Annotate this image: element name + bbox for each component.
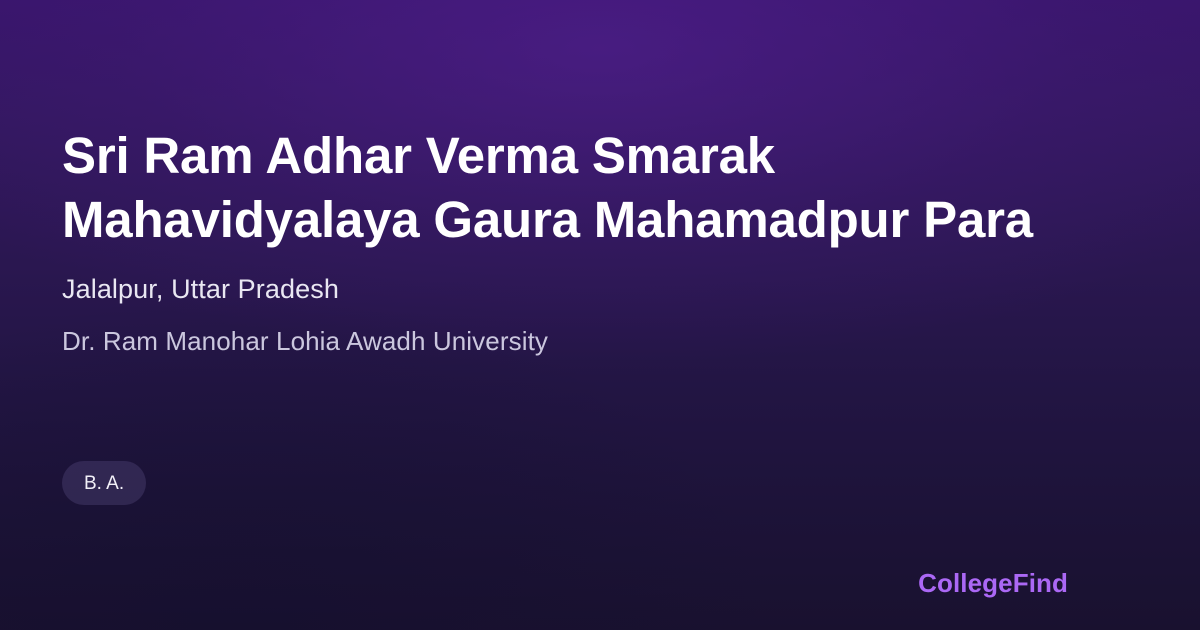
brand-logo: CollegeFind bbox=[918, 568, 1068, 598]
affiliating-university: Dr. Ram Manohar Lohia Awadh University bbox=[62, 324, 548, 358]
course-badge-list: B. A. bbox=[62, 461, 146, 505]
college-og-card: Sri Ram Adhar Verma Smarak Mahavidyalaya… bbox=[0, 0, 1200, 630]
college-location: Jalalpur, Uttar Pradesh bbox=[62, 272, 339, 306]
course-badge: B. A. bbox=[62, 461, 146, 505]
college-title: Sri Ram Adhar Verma Smarak Mahavidyalaya… bbox=[62, 124, 1098, 252]
card-content: Sri Ram Adhar Verma Smarak Mahavidyalaya… bbox=[62, 0, 1100, 630]
